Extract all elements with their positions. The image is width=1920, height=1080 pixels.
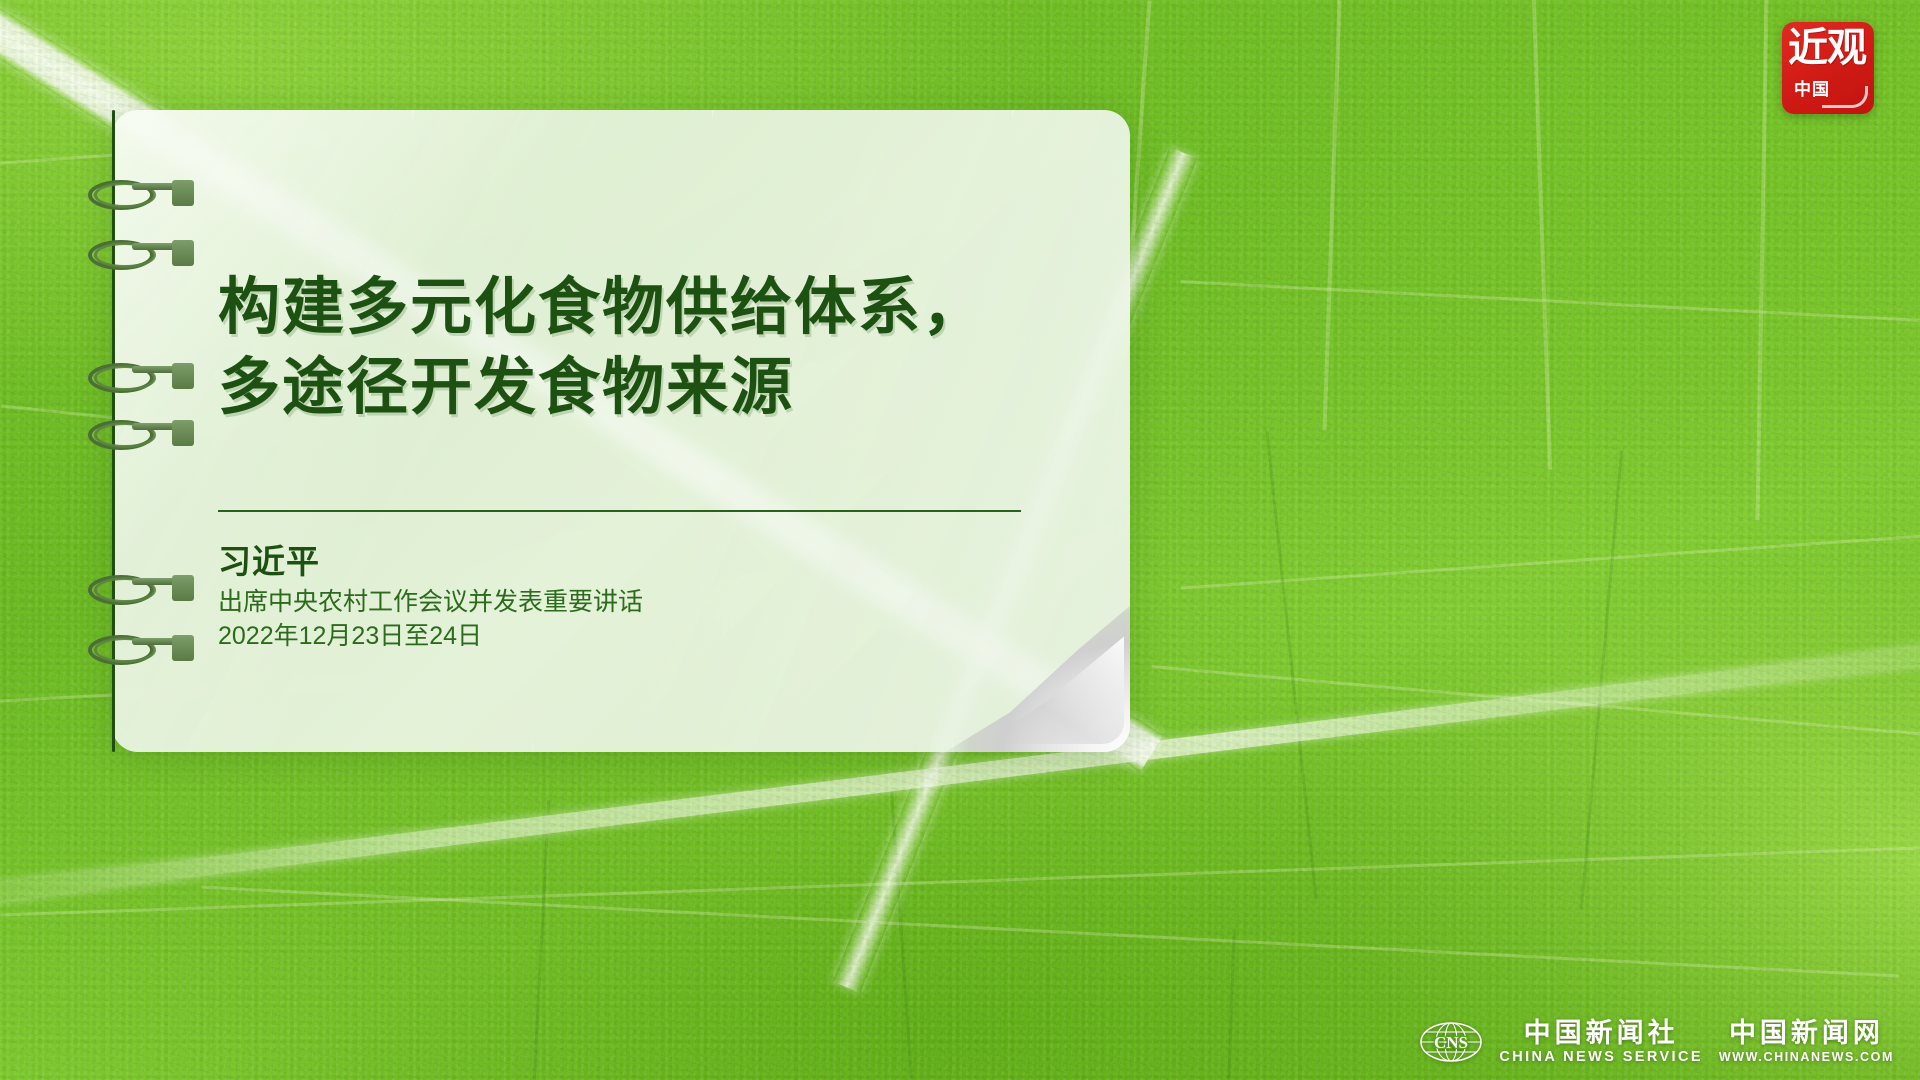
spiral-ring-cap [172, 420, 194, 446]
headline-line-2: 多途径开发食物来源 [218, 348, 1078, 428]
spiral-ring [88, 180, 172, 210]
spiral-ring [88, 575, 172, 605]
cns-agency-en: CHINA NEWS SERVICE [1499, 1048, 1703, 1066]
badge-primary-text: 近观 [1788, 28, 1866, 68]
cns-agency-cn: 中国新闻社 [1524, 1018, 1679, 1048]
spiral-ring-cap [172, 363, 194, 389]
quote-headline: 构建多元化食物供给体系， 多途径开发食物来源 [218, 268, 1078, 428]
attribution-date: 2022年12月23日至24日 [218, 619, 643, 653]
badge-swoosh-icon [1822, 86, 1868, 108]
quote-card [112, 110, 1130, 752]
spiral-ring-cap [172, 240, 194, 266]
spiral-ring-cap [172, 635, 194, 661]
spiral-ring [88, 420, 172, 450]
spiral-ring-cap [172, 575, 194, 601]
attribution-occasion: 出席中央农村工作会议并发表重要讲话 [218, 585, 643, 619]
author-name: 习近平 [218, 535, 320, 583]
spiral-ring [88, 240, 172, 270]
cns-watermark: CNS 中国新闻社 CHINA NEWS SERVICE 中国新闻网 WWW.C… [1419, 1018, 1894, 1066]
spiral-ring-cap [172, 180, 194, 206]
attribution-block: 出席中央农村工作会议并发表重要讲话 2022年12月23日至24日 [218, 585, 643, 653]
cns-site-en: WWW.CHINANEWS.COM [1719, 1048, 1894, 1066]
cns-agency-block: 中国新闻社 CHINA NEWS SERVICE [1499, 1018, 1703, 1066]
card-texture [112, 110, 1130, 752]
cns-site-block: 中国新闻网 WWW.CHINANEWS.COM [1719, 1018, 1894, 1066]
spiral-ring [88, 363, 172, 393]
spiral-ring [88, 635, 172, 665]
headline-line-1: 构建多元化食物供给体系， [218, 268, 1078, 348]
cns-globe-icon: CNS [1419, 1021, 1483, 1063]
svg-text:CNS: CNS [1434, 1033, 1468, 1052]
headline-divider [218, 510, 1021, 512]
jinguan-zhongguo-badge[interactable]: 近观 中国 [1782, 22, 1874, 114]
cns-site-cn: 中国新闻网 [1729, 1018, 1884, 1048]
